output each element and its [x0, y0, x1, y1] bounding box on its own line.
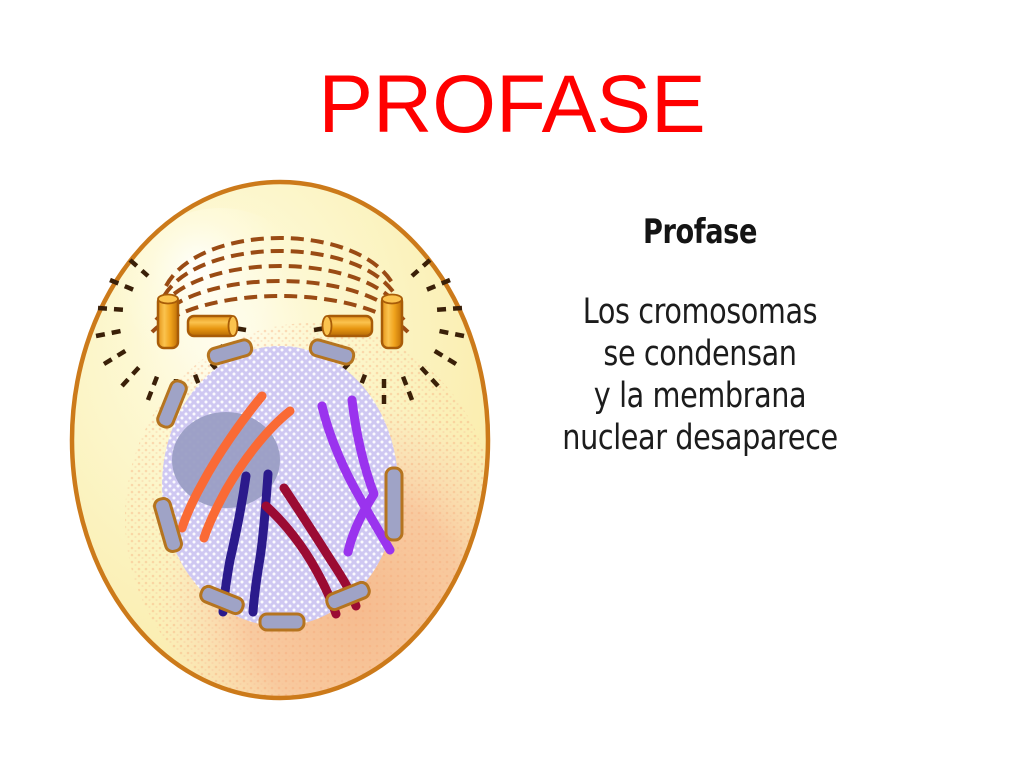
centriole-left-horizontal	[188, 316, 238, 336]
caption-line-3: y la membrana	[532, 375, 868, 417]
prophase-cell-diagram	[60, 168, 500, 708]
cell-diagram-svg	[60, 168, 500, 708]
caption-body: Los cromosomas se condensan y la membran…	[495, 291, 905, 459]
caption-line-4: nuclear desaparece	[532, 417, 868, 459]
centriole-right-vertical	[382, 295, 402, 349]
caption-line-1: Los cromosomas	[532, 291, 868, 333]
caption-block: Profase Los cromosomas se condensan y la…	[495, 215, 905, 459]
centriole-right-horizontal	[323, 316, 373, 336]
caption-heading: Profase	[536, 215, 864, 249]
caption-line-2: se condensan	[532, 333, 868, 375]
centriole-left-vertical	[158, 295, 178, 349]
page-title: PROFASE	[0, 62, 1024, 148]
slide-canvas: PROFASE	[0, 0, 1024, 768]
